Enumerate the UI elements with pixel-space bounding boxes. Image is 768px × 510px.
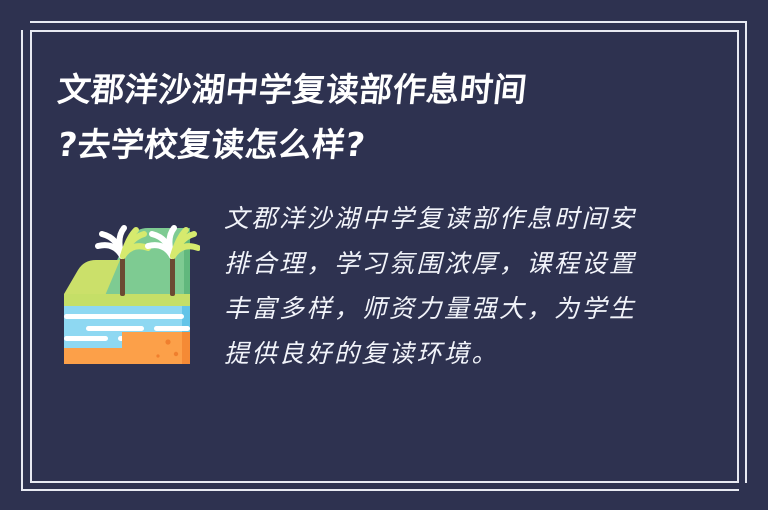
title-line-2: ?去学校复读怎么样? — [55, 117, 701, 172]
frame-corner-mask-bottom-right — [739, 483, 768, 510]
content-row: 文郡洋沙湖中学复读部作息时间安排合理，学习氛围浓厚，课程设置丰富多样，师资力量强… — [58, 196, 678, 376]
page-title: 文郡洋沙湖中学复读部作息时间 ?去学校复读怎么样? — [58, 62, 698, 172]
island-illustration — [58, 198, 200, 370]
tropical-island-icon — [58, 198, 200, 370]
poster-canvas: 文郡洋沙湖中学复读部作息时间 ?去学校复读怎么样? — [0, 0, 768, 510]
frame-corner-mask-top-left — [0, 0, 30, 30]
body-paragraph: 文郡洋沙湖中学复读部作息时间安排合理，学习氛围浓厚，课程设置丰富多样，师资力量强… — [224, 196, 654, 376]
title-line-1: 文郡洋沙湖中学复读部作息时间 — [55, 62, 701, 117]
